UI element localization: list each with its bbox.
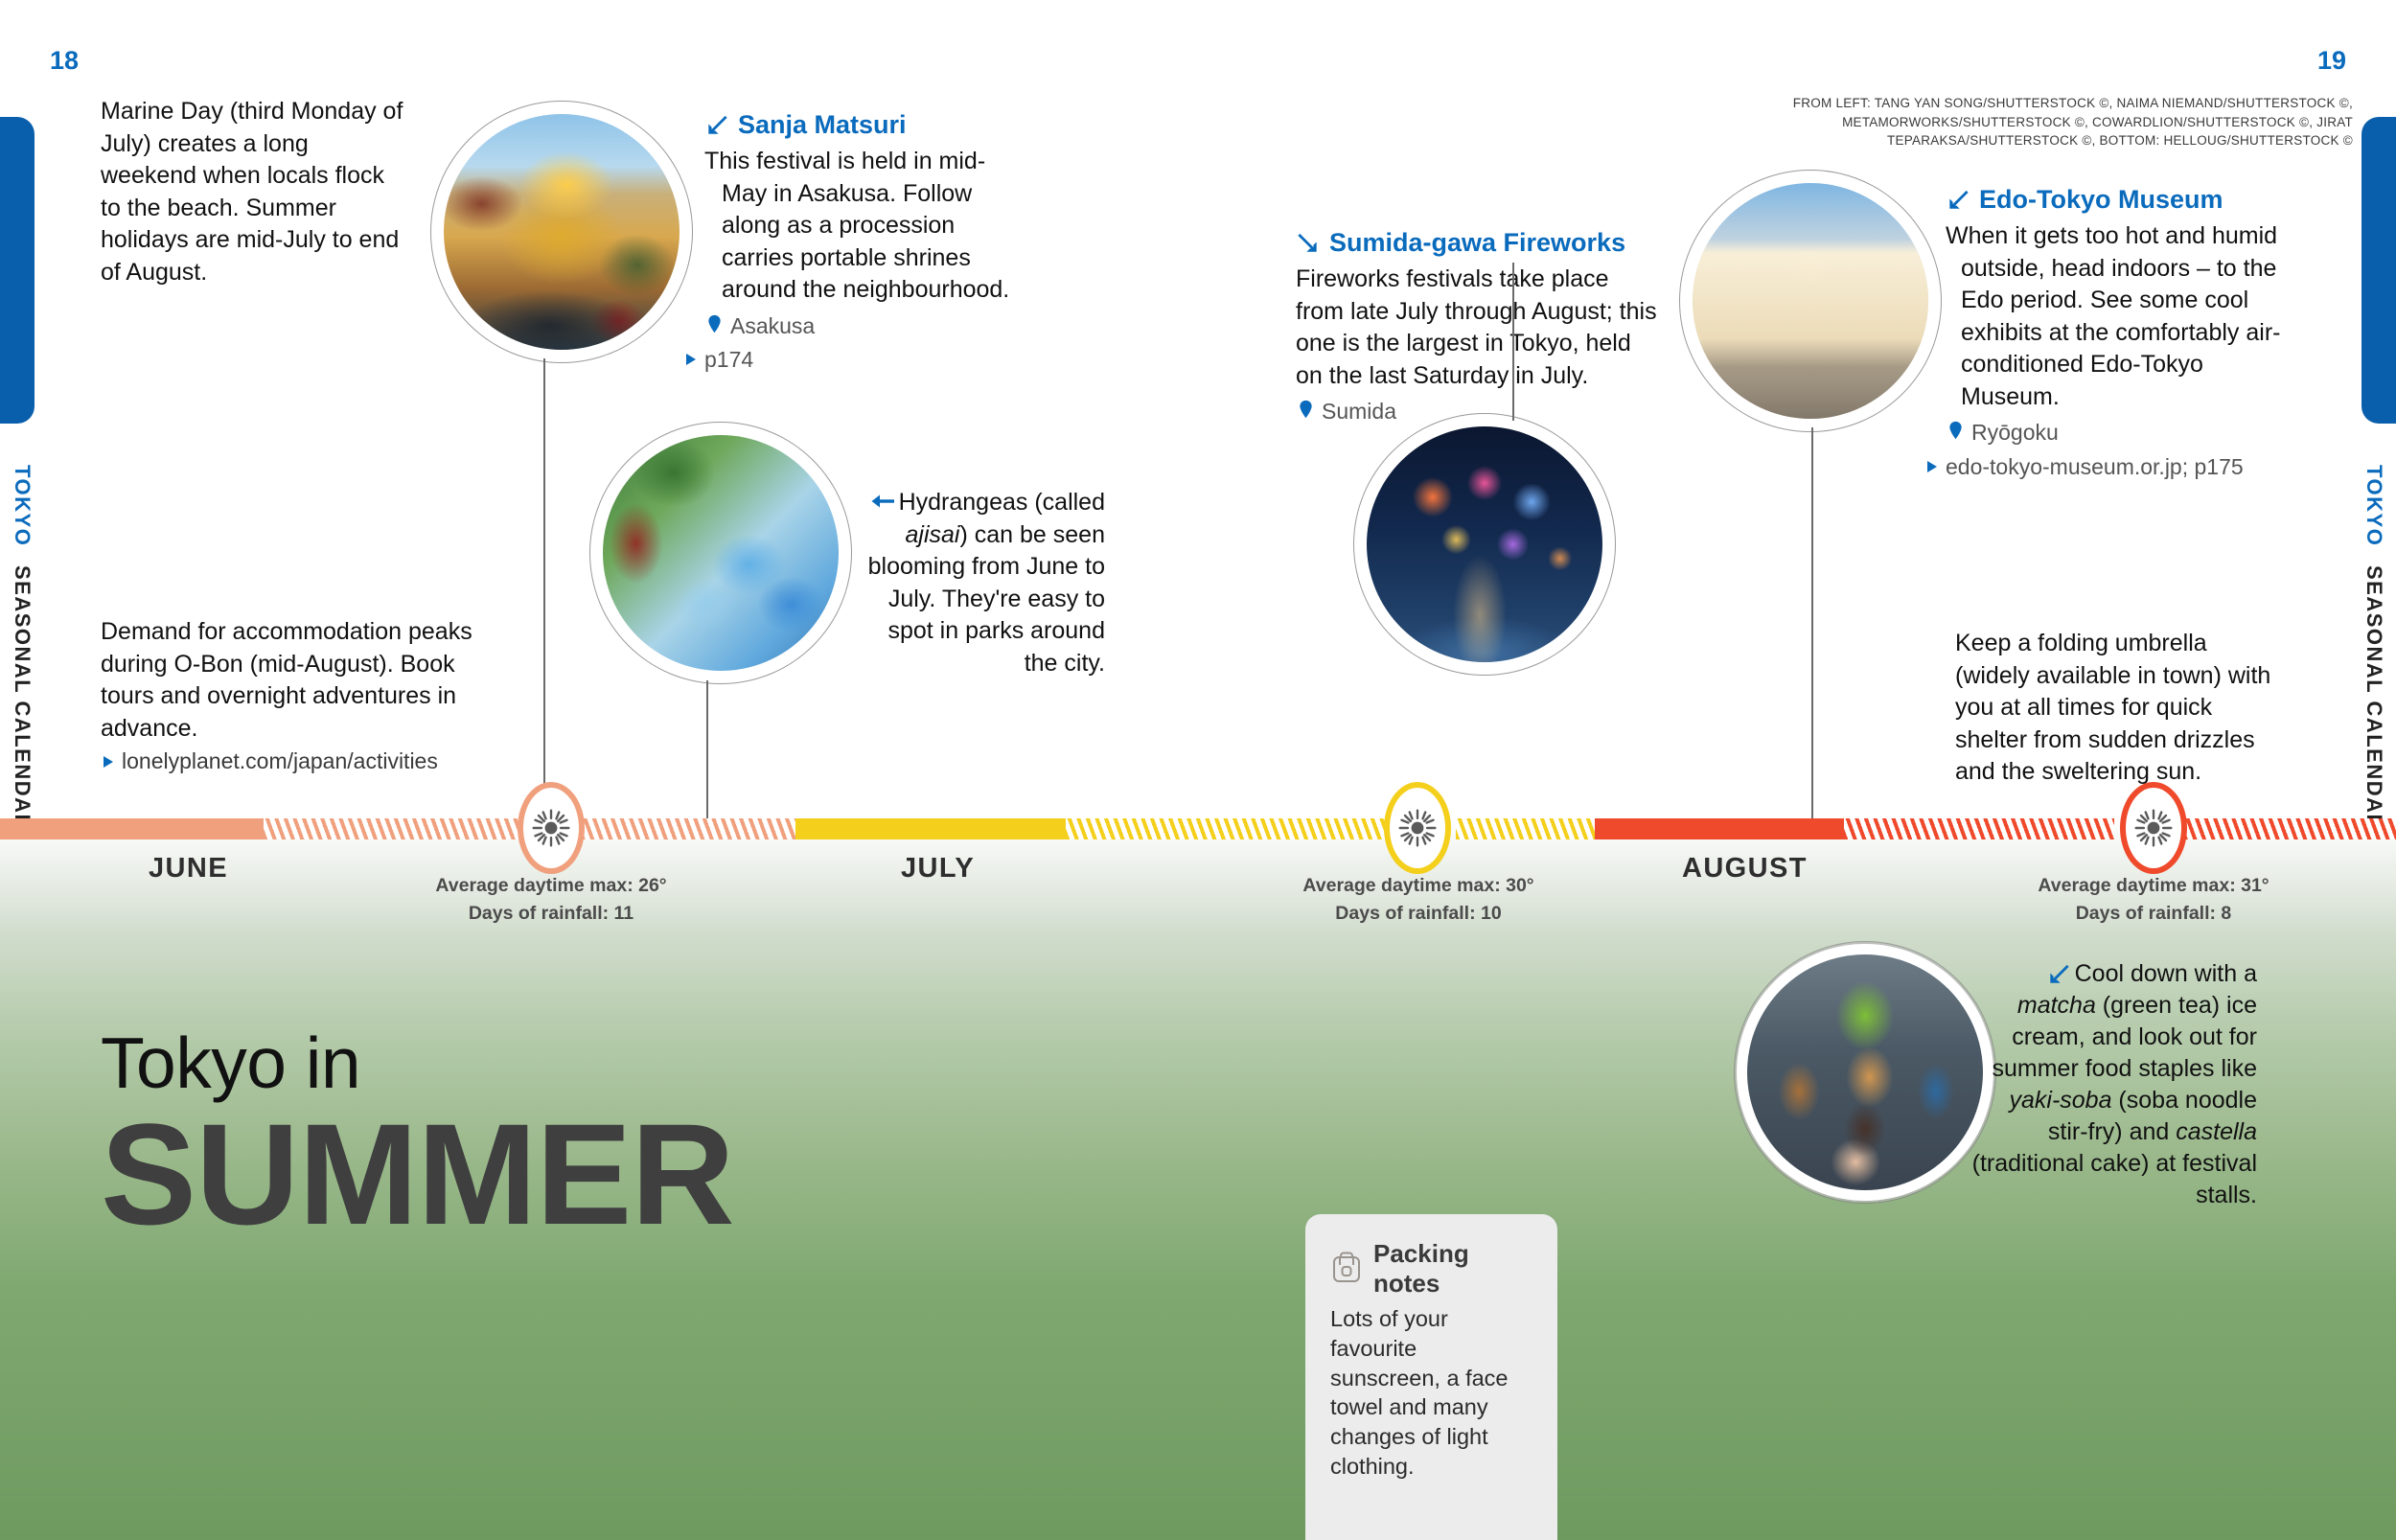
- packing-notes-body: Lots of your favourite sunscreen, a face…: [1330, 1304, 1532, 1482]
- feature-edo-tokyo-museum-location-label: Ryōgoku: [1971, 418, 2059, 448]
- weather-july-max: Average daytime max: 30°: [1251, 872, 1586, 900]
- play-triangle-icon: [1924, 452, 1940, 476]
- weather-stats-july: Average daytime max: 30° Days of rainfal…: [1251, 872, 1586, 929]
- feature-edo-tokyo-museum-title: Edo-Tokyo Museum: [1979, 182, 2223, 217]
- seasonal-timeline: [0, 818, 2396, 839]
- page-title: Tokyo in SUMMER: [101, 1027, 734, 1248]
- page-title-line1: Tokyo in: [101, 1027, 734, 1099]
- left-running-head: TOKYO SEASONAL CALENDAR: [10, 465, 35, 831]
- note-accommodation: Demand for accommodation peaks during O-…: [101, 616, 484, 776]
- right-running-head-brand: TOKYO: [2362, 465, 2386, 546]
- sun-icon: [2132, 807, 2175, 849]
- photo-credits: FROM LEFT: TANG YAN SONG/SHUTTERSTOCK ©,…: [1692, 94, 2353, 150]
- packing-notes-header: Packing notes: [1330, 1239, 1532, 1299]
- map-pin-icon: [1946, 418, 1966, 443]
- sun-marker-july: [1384, 782, 1451, 874]
- feature-sanja-matsuri: Sanja Matsuri This festival is held in m…: [704, 107, 1021, 375]
- timeline-segment-june-hatch-b: [572, 818, 795, 839]
- weather-august-rainfall: Days of rainfall: 8: [1986, 900, 2321, 928]
- photo-fireworks: [1356, 416, 1613, 673]
- feature-hydrangeas-part2: ) can be seen blooming from June to July…: [868, 521, 1105, 677]
- feature-sanja-matsuri-location-label: Asakusa: [730, 311, 815, 341]
- photo-matcha-ice-cream: [1737, 944, 1993, 1201]
- caption-matcha-i3: castella: [2176, 1118, 2257, 1145]
- arrow-down-left-icon: [1946, 187, 1970, 212]
- timeline-month-july: JULY: [901, 853, 975, 885]
- feature-sumida-fireworks-heading: Sumida-gawa Fireworks: [1296, 225, 1660, 260]
- timeline-segment-august-hatch-b: [2156, 818, 2396, 839]
- feature-sumida-fireworks-body: Fireworks festivals take place from late…: [1296, 264, 1660, 392]
- sun-marker-june: [518, 782, 585, 874]
- play-triangle-icon: [101, 747, 116, 771]
- sun-marker-august: [2120, 782, 2187, 874]
- feature-sumida-fireworks-title: Sumida-gawa Fireworks: [1329, 225, 1625, 260]
- feature-sanja-matsuri-location: Asakusa: [704, 311, 1021, 341]
- note-accommodation-link-label: lonelyplanet.com/japan/activities: [122, 747, 438, 776]
- page-title-line2: SUMMER: [101, 1101, 734, 1248]
- map-pin-icon: [1296, 397, 1316, 422]
- feature-edo-tokyo-museum: Edo-Tokyo Museum When it gets too hot an…: [1946, 182, 2305, 482]
- photo-sanja-matsuri-image: [444, 114, 680, 350]
- feature-edo-tokyo-museum-heading: Edo-Tokyo Museum: [1946, 182, 2305, 217]
- feature-sanja-matsuri-link-label: p174: [704, 345, 753, 375]
- feature-hydrangeas-italic: ajisai: [906, 521, 960, 548]
- connector-edo: [1811, 427, 1813, 828]
- right-running-head-section: SEASONAL CALENDAR: [2362, 565, 2386, 831]
- map-pin-icon: [704, 311, 725, 336]
- feature-sanja-matsuri-title: Sanja Matsuri: [738, 107, 907, 142]
- right-page-tab: [2361, 117, 2396, 424]
- timeline-segment-june-hatch-a: [264, 818, 529, 839]
- sun-icon: [1396, 807, 1439, 849]
- feature-edo-tokyo-museum-link-label: edo-tokyo-museum.or.jp; p175: [1946, 452, 2244, 482]
- arrow-down-right-icon: [1296, 230, 1321, 255]
- note-marine-day: Marine Day (third Monday of July) create…: [101, 96, 407, 288]
- feature-sanja-matsuri-link[interactable]: p174: [683, 345, 1021, 375]
- timeline-segment-july-solid: [795, 818, 1066, 839]
- sun-icon: [530, 807, 572, 849]
- feature-sumida-fireworks: Sumida-gawa Fireworks Fireworks festival…: [1296, 225, 1660, 426]
- weather-stats-august: Average daytime max: 31° Days of rainfal…: [1986, 872, 2321, 929]
- caption-matcha-p4: (traditional cake) at festival stalls.: [1972, 1150, 2257, 1208]
- feature-sanja-matsuri-body: This festival is held in mid-May in Asak…: [704, 146, 1021, 307]
- arrow-left-icon: [869, 490, 894, 515]
- note-accommodation-body: Demand for accommodation peaks during O-…: [101, 616, 484, 745]
- photo-hydrangeas-image: [603, 435, 839, 671]
- packing-notes-title: Packing notes: [1373, 1239, 1532, 1299]
- weather-june-max: Average daytime max: 26°: [383, 872, 719, 900]
- left-running-head-section: SEASONAL CALENDAR: [11, 565, 35, 831]
- right-running-head: TOKYO SEASONAL CALENDAR: [2361, 465, 2386, 831]
- timeline-segment-august-solid: [1595, 818, 1844, 839]
- weather-july-rainfall: Days of rainfall: 10: [1251, 900, 1586, 928]
- photo-edo-tokyo-museum: [1682, 172, 1939, 429]
- weather-stats-june: Average daytime max: 26° Days of rainfal…: [383, 872, 719, 929]
- note-accommodation-link[interactable]: lonelyplanet.com/japan/activities: [101, 747, 484, 776]
- packing-notes-card: Packing notes Lots of your favourite sun…: [1305, 1214, 1557, 1540]
- magazine-spread: TOKYO SEASONAL CALENDAR TOKYO SEASONAL C…: [0, 0, 2396, 1540]
- left-page-tab: [0, 117, 35, 424]
- photo-edo-tokyo-museum-image: [1693, 183, 1928, 419]
- feature-edo-tokyo-museum-body: When it gets too hot and humid outside, …: [1946, 220, 2305, 413]
- timeline-segment-august-hatch-a: [1844, 818, 2114, 839]
- note-umbrella: Keep a folding umbrella (widely availabl…: [1955, 628, 2281, 789]
- caption-matcha-i1: matcha: [2017, 992, 2096, 1019]
- connector-fireworks: [1512, 263, 1514, 421]
- feature-hydrangeas: Hydrangeas (called ajisai) can be seen b…: [851, 487, 1105, 679]
- caption-matcha: Cool down with a matcha (green tea) ice …: [1970, 958, 2257, 1211]
- connector-sanja: [543, 358, 545, 828]
- photo-fireworks-image: [1367, 426, 1602, 662]
- backpack-icon: [1330, 1250, 1363, 1289]
- feature-edo-tokyo-museum-link[interactable]: edo-tokyo-museum.or.jp; p175: [1924, 452, 2305, 482]
- timeline-segment-june-solid: [0, 818, 264, 839]
- page-number-right: 19: [2317, 46, 2346, 76]
- photo-hydrangeas: [592, 425, 849, 681]
- arrow-down-left-icon: [704, 112, 729, 137]
- feature-sanja-matsuri-heading: Sanja Matsuri: [704, 107, 1021, 142]
- connector-hydrangeas: [706, 680, 708, 829]
- arrow-down-left-icon: [2046, 961, 2071, 986]
- photo-sanja-matsuri: [433, 103, 690, 360]
- left-running-head-brand: TOKYO: [11, 465, 35, 546]
- photo-matcha-ice-cream-image: [1747, 954, 1983, 1190]
- timeline-month-august: AUGUST: [1682, 853, 1808, 885]
- play-triangle-icon: [683, 345, 699, 369]
- timeline-segment-july-hatch-a: [1066, 818, 1413, 839]
- timeline-segment-july-hatch-b: [1456, 818, 1595, 839]
- weather-june-rainfall: Days of rainfall: 11: [383, 900, 719, 928]
- weather-august-max: Average daytime max: 31°: [1986, 872, 2321, 900]
- page-number-left: 18: [50, 46, 79, 76]
- caption-matcha-i2: yaki-soba: [2009, 1087, 2111, 1114]
- timeline-month-june: JUNE: [149, 853, 228, 885]
- caption-matcha-p1: Cool down with a: [2075, 960, 2257, 987]
- feature-sumida-fireworks-location-label: Sumida: [1322, 397, 1396, 426]
- feature-edo-tokyo-museum-location: Ryōgoku: [1946, 418, 2305, 448]
- feature-hydrangeas-part1: Hydrangeas (called: [899, 489, 1105, 516]
